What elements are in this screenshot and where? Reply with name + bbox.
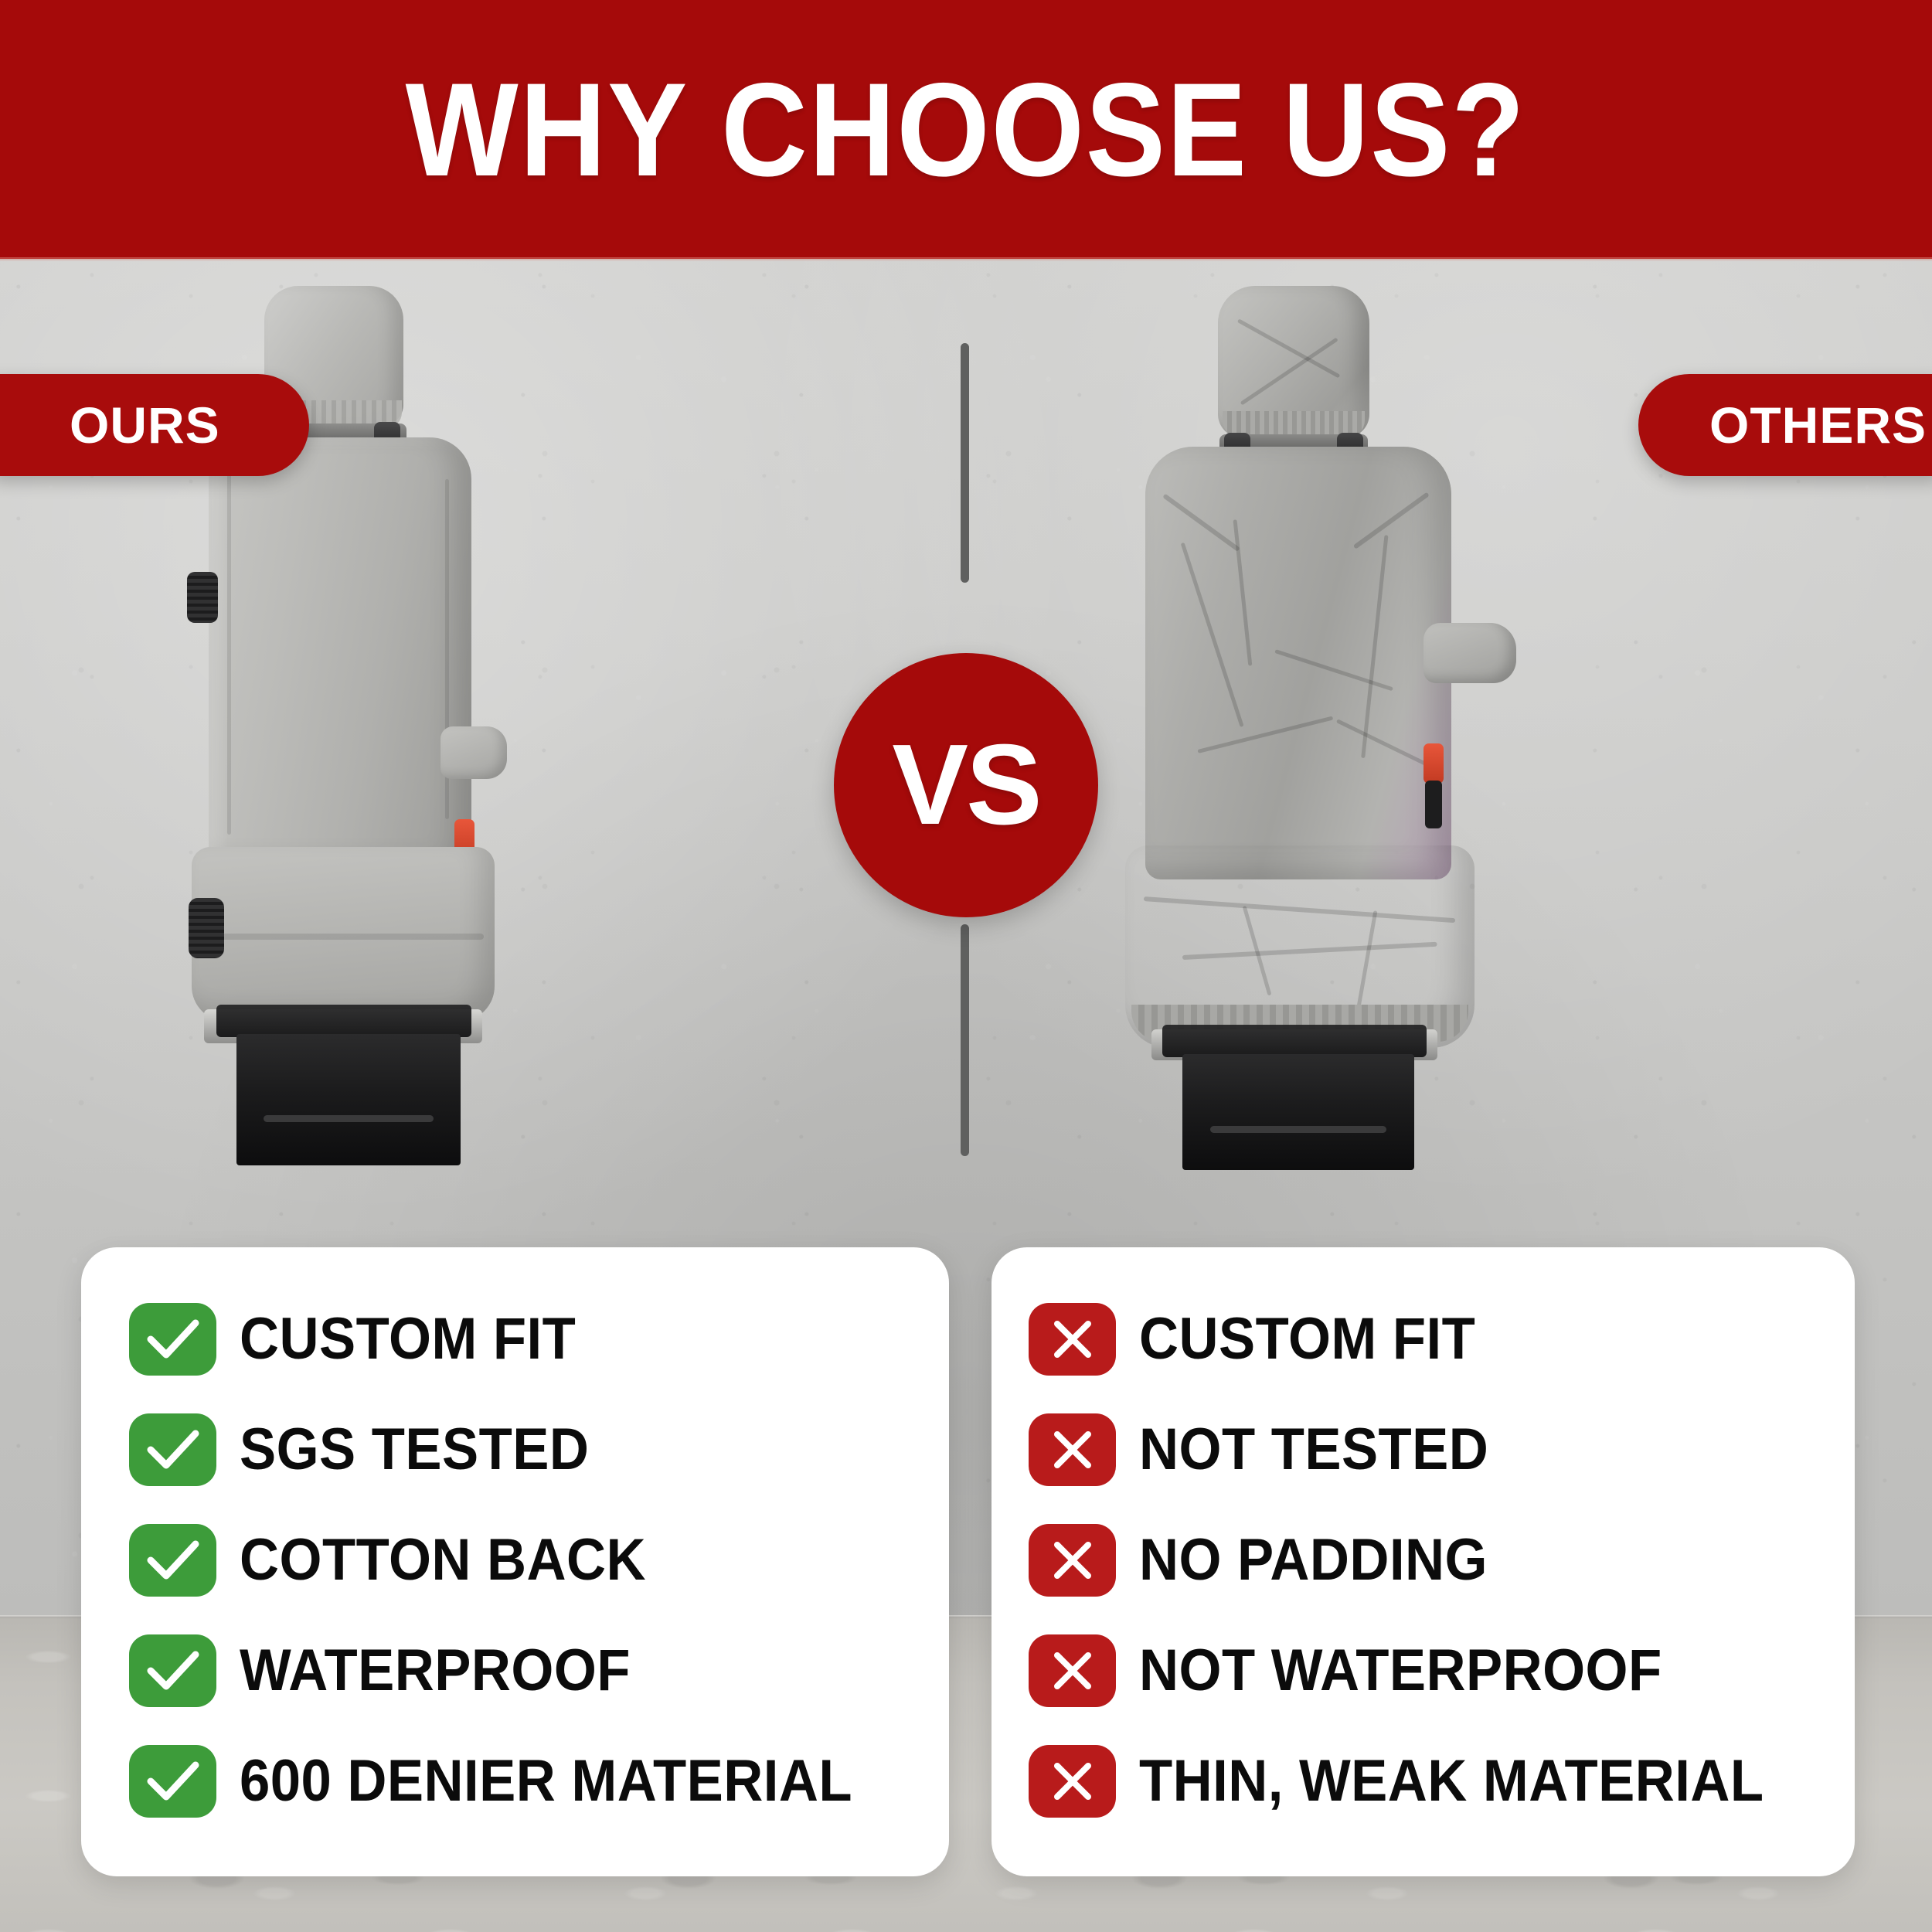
feature-label: COTTON BACK <box>240 1531 646 1590</box>
label-badge-others-text: OTHERS <box>1709 396 1927 454</box>
cross-icon <box>1029 1524 1116 1597</box>
seat-frame-others <box>1162 1025 1427 1057</box>
check-icon <box>129 1413 216 1486</box>
feature-card-ours: CUSTOM FIT SGS TESTED COTTON BACK <box>81 1247 949 1876</box>
feature-row: WATERPROOF <box>81 1634 949 1707</box>
cross-icon <box>1029 1303 1116 1376</box>
banner-bottom-edge <box>0 257 1932 261</box>
feature-row: NOT TESTED <box>992 1413 1855 1486</box>
cross-icon <box>1029 1745 1116 1818</box>
check-icon <box>129 1303 216 1376</box>
check-icon <box>129 1524 216 1597</box>
feature-label: SGS TESTED <box>240 1420 589 1479</box>
vs-label: VS <box>892 728 1039 842</box>
feature-row: SGS TESTED <box>81 1413 949 1486</box>
backrest-seam-left-ours <box>227 464 231 835</box>
armrest-others <box>1423 623 1516 683</box>
feature-row: NOT WATERPROOF <box>992 1634 1855 1707</box>
seat-pedestal-others <box>1182 1054 1414 1170</box>
feature-row: CUSTOM FIT <box>81 1303 949 1376</box>
cushion-fold-ours <box>202 934 484 940</box>
armrest-ours <box>440 726 507 779</box>
feature-row: 600 DENIER MATERIAL <box>81 1745 949 1818</box>
feature-row: CUSTOM FIT <box>992 1303 1855 1376</box>
poster-canvas: WHY CHOOSE US? <box>0 0 1932 1932</box>
check-icon <box>129 1634 216 1707</box>
feature-row: NO PADDING <box>992 1524 1855 1597</box>
feature-label: NOT WATERPROOF <box>1139 1641 1662 1700</box>
header-banner: WHY CHOOSE US? <box>0 0 1932 259</box>
label-badge-ours-text: OURS <box>70 396 220 454</box>
label-badge-ours: OURS <box>0 374 309 476</box>
feature-label: THIN, WEAK MATERIAL <box>1139 1752 1764 1811</box>
feature-label: NO PADDING <box>1139 1531 1488 1590</box>
vs-badge: VS <box>834 653 1098 917</box>
feature-label: CUSTOM FIT <box>240 1310 576 1369</box>
feature-row: COTTON BACK <box>81 1524 949 1597</box>
feature-label: WATERPROOF <box>240 1641 631 1700</box>
feature-label: 600 DENIER MATERIAL <box>240 1752 852 1811</box>
divider-line-top <box>961 343 969 583</box>
seat-frame-ours <box>216 1005 471 1037</box>
label-badge-others: OTHERS <box>1638 374 1932 476</box>
feature-label: CUSTOM FIT <box>1139 1310 1475 1369</box>
seat-backrest-ours <box>209 437 471 870</box>
cross-icon <box>1029 1413 1116 1486</box>
feature-row: THIN, WEAK MATERIAL <box>992 1745 1855 1818</box>
seatbelt-buckle-others <box>1423 743 1444 784</box>
recline-knob-bottom-ours <box>189 898 224 958</box>
seat-pedestal-ours <box>236 1034 461 1165</box>
seatbelt-stem-others <box>1425 781 1442 828</box>
cross-icon <box>1029 1634 1116 1707</box>
page-title: WHY CHOOSE US? <box>406 63 1526 196</box>
recline-knob-top-ours <box>187 572 218 623</box>
feature-label: NOT TESTED <box>1139 1420 1488 1479</box>
check-icon <box>129 1745 216 1818</box>
divider-line-bottom <box>961 924 969 1156</box>
feature-card-others: CUSTOM FIT NOT TESTED NO PADDING <box>992 1247 1855 1876</box>
